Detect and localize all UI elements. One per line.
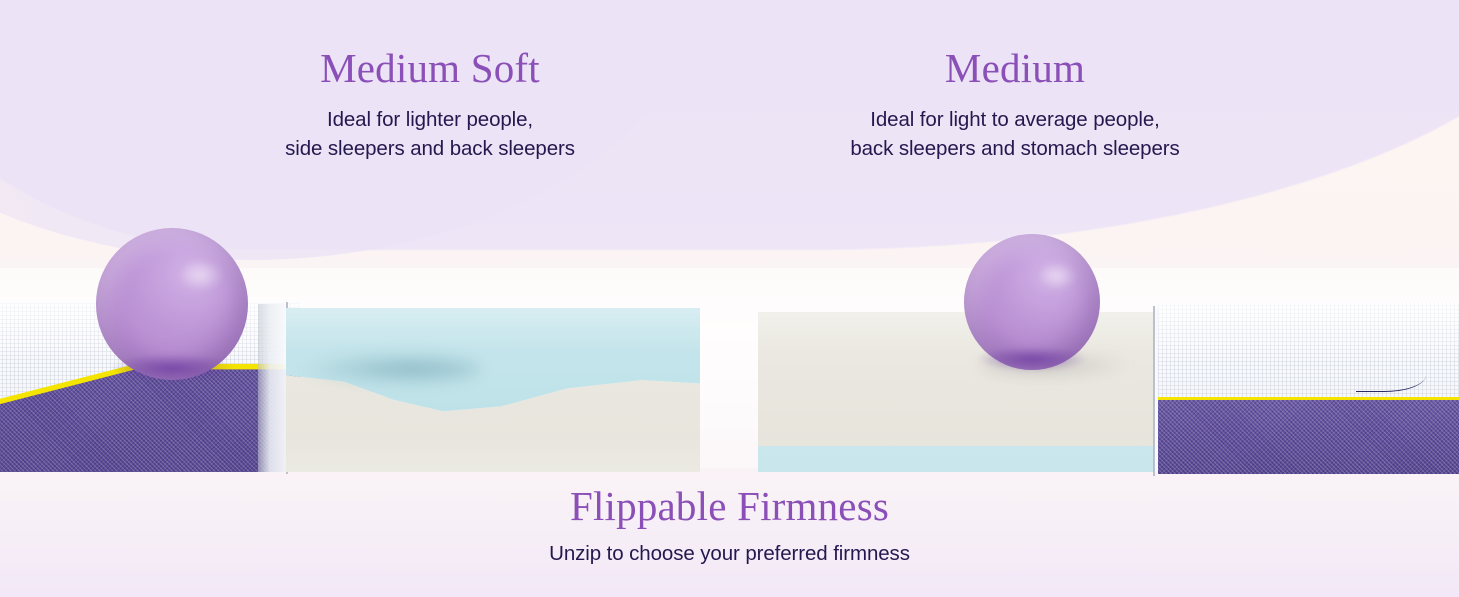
pressure-ball-sunken [96,228,248,380]
column-description-line2: back sleepers and stomach sleepers [790,134,1240,163]
mattress-cut-edge [1153,306,1155,476]
soft-layer-bottom [758,446,1154,472]
column-heading-medium: Medium Ideal for light to average people… [790,46,1240,163]
footer-area: Flippable Firmness Unzip to choose your … [0,482,1459,566]
ball-highlight [1037,261,1078,291]
column-description: Ideal for light to average people, back … [790,105,1240,163]
column-description-line1: Ideal for light to average people, [790,105,1240,134]
footer-subtitle: Unzip to choose your preferred firmness [0,542,1459,566]
ball-bottom-shading [111,354,233,381]
footer-title: Flippable Firmness [0,482,1459,530]
ball-highlight [178,258,224,291]
pressure-ball-resting [964,234,1100,370]
mattress-medium [752,296,1459,486]
column-title: Medium Soft [200,46,660,92]
mesh-icon [1158,400,1459,474]
mattress-medium-soft [0,296,716,486]
column-description: Ideal for lighter people, side sleepers … [200,105,660,163]
firm-layer-top [758,312,1154,446]
column-description-line2: side sleepers and back sleepers [200,134,660,163]
mattress-cut-face [258,304,286,472]
mattress-cross-section-right [758,312,1154,472]
headings-area: Medium Soft Ideal for lighter people, si… [0,0,1459,200]
column-heading-medium-soft: Medium Soft Ideal for lighter people, si… [200,46,660,163]
mattress-far-slab-right [1158,302,1459,474]
mattress-cross-section-left [286,308,700,472]
zipper-yellow-icon [1158,397,1459,400]
column-title: Medium [790,46,1240,92]
banner-stage: Medium Soft Ideal for lighter people, si… [0,0,1459,597]
column-description-line1: Ideal for lighter people, [200,105,660,134]
